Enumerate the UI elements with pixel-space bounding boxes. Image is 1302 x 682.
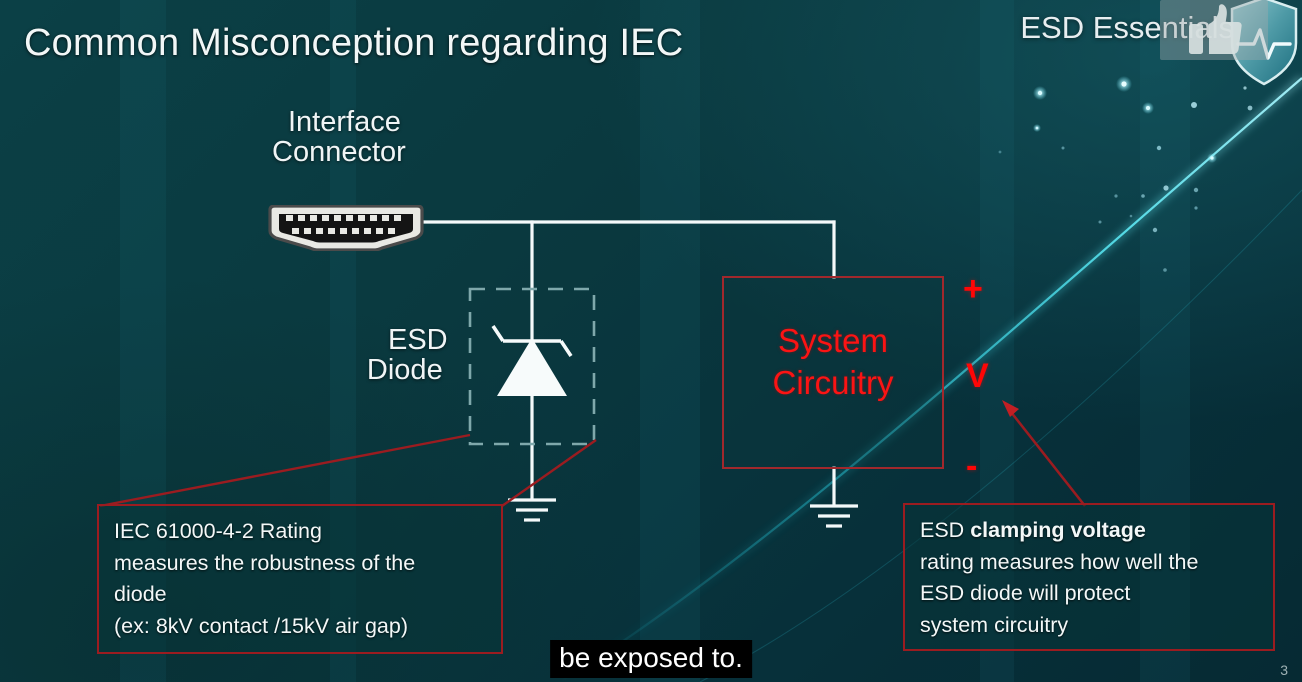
polarity-voltage-label: V xyxy=(966,357,989,396)
video-caption: be exposed to. xyxy=(550,640,752,678)
callout-right-line3: ESD diode will protect xyxy=(920,578,1259,610)
slide-canvas: Common Misconception regarding IEC ESD E… xyxy=(0,0,1302,682)
hdmi-connector-icon xyxy=(266,205,426,251)
page-number: 3 xyxy=(1280,662,1288,678)
callout-right-pointer xyxy=(1002,400,1085,506)
callout-right-prefix: ESD xyxy=(920,518,970,542)
ground-icon xyxy=(508,500,556,520)
callout-left-line2: measures the robustness of the xyxy=(114,548,487,580)
system-label-line1: System xyxy=(724,320,942,362)
esd-diode-label: ESD Diode xyxy=(388,326,448,386)
ground-icon-system xyxy=(810,506,858,526)
callout-left-line4: (ex: 8kV contact /15kV air gap) xyxy=(114,611,487,643)
callout-right: ESD clamping voltage rating measures how… xyxy=(903,503,1275,651)
callout-left-line1: IEC 61000-4-2 Rating xyxy=(114,516,487,548)
callout-right-bold: clamping voltage xyxy=(970,518,1146,542)
callout-right-line1: ESD clamping voltage xyxy=(920,515,1259,547)
callout-right-line2: rating measures how well the xyxy=(920,547,1259,579)
callout-left: IEC 61000-4-2 Rating measures the robust… xyxy=(97,504,503,654)
interface-label-line2: Connector xyxy=(272,138,406,168)
polarity-minus-label: - xyxy=(966,447,977,486)
interface-connector-label: Interface Connector xyxy=(283,108,406,168)
system-circuitry-label: System Circuitry xyxy=(724,320,942,404)
callout-left-line3: diode xyxy=(114,579,487,611)
esd-label-line2: Diode xyxy=(362,356,448,386)
callout-left-pointer xyxy=(100,435,596,506)
system-label-line2: Circuitry xyxy=(724,362,942,404)
esd-label-line1: ESD xyxy=(388,326,448,356)
polarity-plus-label: + xyxy=(963,270,983,309)
callout-right-line4: system circuitry xyxy=(920,610,1259,642)
interface-label-line1: Interface xyxy=(283,108,406,138)
